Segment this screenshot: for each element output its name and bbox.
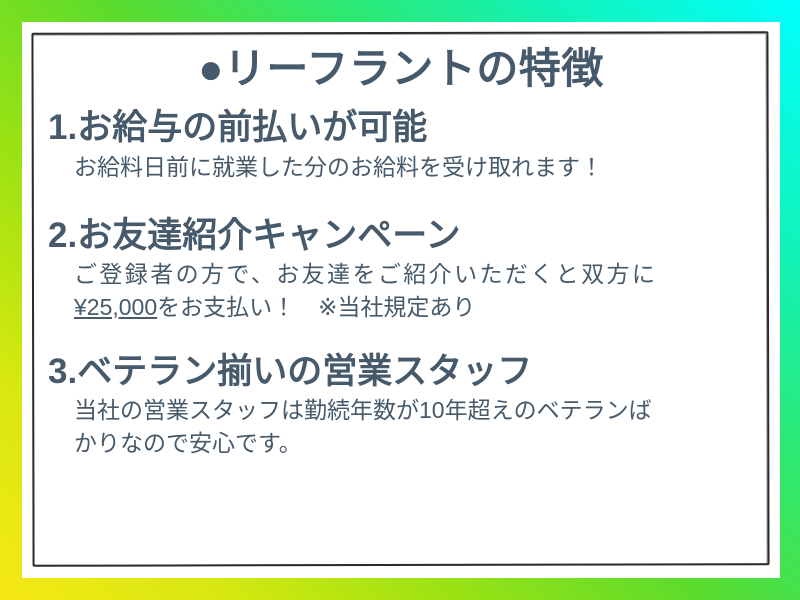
feature-item-3-body: 当社の営業スタッフは勤続年数が10年超えのベテランば かりなので安心です。 <box>74 394 754 459</box>
feature-item-3-body-line-1: 当社の営業スタッフは勤続年数が10年超えのベテランば <box>74 394 754 427</box>
feature-item-1: 1.お給与の前払いが可能 お給料日前に就業した分のお給料を受け取れます！ <box>48 106 754 183</box>
spacer-2 <box>48 328 754 350</box>
referral-bonus-suffix: をお支払い！ ※当社規定あり <box>157 294 475 320</box>
feature-item-1-heading: 1.お給与の前払いが可能 <box>48 106 754 150</box>
feature-item-2-body: ご登録者の方で、お友達をご紹介いただくと双方に ¥25,000をお支払い！ ※当… <box>74 258 754 323</box>
page-title: ●リーフラントの特徴 <box>48 46 754 92</box>
feature-item-2-heading: 2.お友達紹介キャンペーン <box>48 214 754 258</box>
feature-item-2: 2.お友達紹介キャンペーン ご登録者の方で、お友達をご紹介いただくと双方に ¥2… <box>48 214 754 324</box>
spacer-1 <box>48 188 754 214</box>
feature-item-1-body-line-1: お給料日前に就業した分のお給料を受け取れます！ <box>74 151 754 184</box>
feature-item-3-heading: 3.ベテラン揃いの営業スタッフ <box>48 350 754 394</box>
feature-item-2-body-line-2: ¥25,000をお支払い！ ※当社規定あり <box>74 291 754 324</box>
feature-item-3: 3.ベテラン揃いの営業スタッフ 当社の営業スタッフは勤続年数が10年超えのベテラ… <box>48 350 754 460</box>
slide-content: ●リーフラントの特徴 1.お給与の前払いが可能 お給料日前に就業した分のお給料を… <box>22 22 780 578</box>
feature-item-1-body: お給料日前に就業した分のお給料を受け取れます！ <box>74 151 754 184</box>
referral-bonus-amount: ¥25,000 <box>74 294 157 320</box>
feature-item-3-body-line-2: かりなので安心です。 <box>74 427 754 460</box>
slide-gradient-background: ●リーフラントの特徴 1.お給与の前払いが可能 お給料日前に就業した分のお給料を… <box>0 0 800 600</box>
white-card: ●リーフラントの特徴 1.お給与の前払いが可能 お給料日前に就業した分のお給料を… <box>22 22 780 578</box>
feature-item-2-body-line-1: ご登録者の方で、お友達をご紹介いただくと双方に <box>74 258 754 291</box>
